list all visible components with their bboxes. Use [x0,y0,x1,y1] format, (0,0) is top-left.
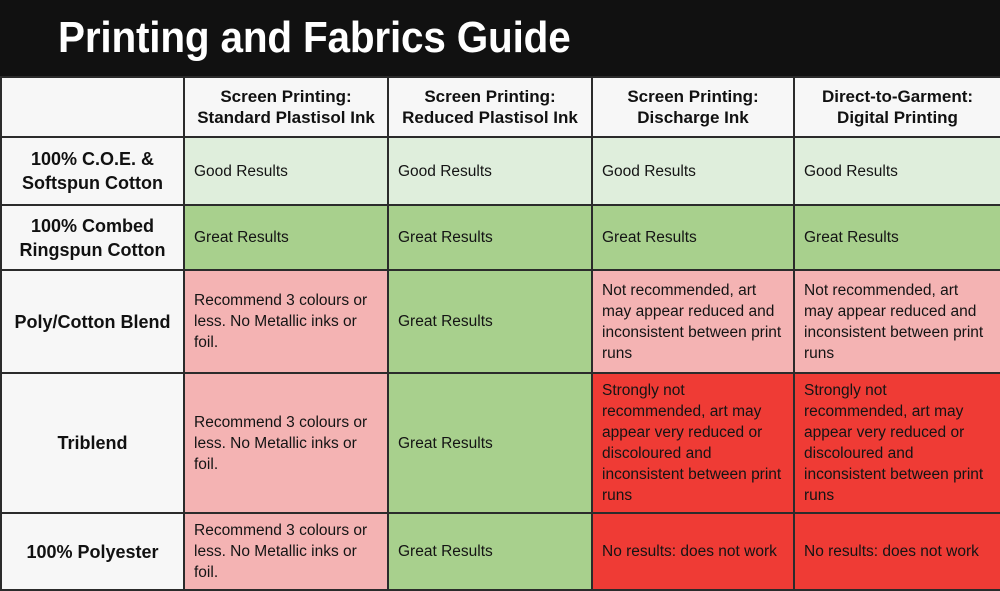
cell-r4c2: Great Results [388,373,592,513]
cell-r2c3: Great Results [592,205,794,270]
row-label-triblend: Triblend [1,373,184,513]
table-header-row: Screen Printing: Standard Plastisol Ink … [1,77,1000,137]
column-header-discharge-ink: Screen Printing: Discharge Ink [592,77,794,137]
cell-r4c1: Recommend 3 colours or less. No Metallic… [184,373,388,513]
row-label-poly-cotton-blend: Poly/Cotton Blend [1,270,184,373]
cell-r3c2: Great Results [388,270,592,373]
cell-r2c4: Great Results [794,205,1000,270]
cell-r5c4: No results: does not work [794,513,1000,590]
table-row: 100% Polyester Recommend 3 colours or le… [1,513,1000,590]
table-row: 100% C.O.E. & Softspun Cotton Good Resul… [1,137,1000,205]
cell-r5c3: No results: does not work [592,513,794,590]
printing-fabrics-guide-page: Printing and Fabrics Guide Screen Printi… [0,0,1000,578]
cell-r1c1: Good Results [184,137,388,205]
cell-r5c2: Great Results [388,513,592,590]
printing-compatibility-table: Screen Printing: Standard Plastisol Ink … [0,76,1000,591]
cell-r3c4: Not recommended, art may appear reduced … [794,270,1000,373]
table-row: Poly/Cotton Blend Recommend 3 colours or… [1,270,1000,373]
table-row: 100% Combed Ringspun Cotton Great Result… [1,205,1000,270]
cell-r1c2: Good Results [388,137,592,205]
cell-r1c4: Good Results [794,137,1000,205]
column-header-reduced-plastisol: Screen Printing: Reduced Plastisol Ink [388,77,592,137]
table-row: Triblend Recommend 3 colours or less. No… [1,373,1000,513]
cell-r4c4: Strongly not recommended, art may appear… [794,373,1000,513]
page-title: Printing and Fabrics Guide [58,15,571,61]
table-corner-cell [1,77,184,137]
column-header-standard-plastisol: Screen Printing: Standard Plastisol Ink [184,77,388,137]
cell-r2c2: Great Results [388,205,592,270]
row-label-combed-ringspun-cotton: 100% Combed Ringspun Cotton [1,205,184,270]
row-label-coe-softspun-cotton: 100% C.O.E. & Softspun Cotton [1,137,184,205]
cell-r5c1: Recommend 3 colours or less. No Metallic… [184,513,388,590]
cell-r1c3: Good Results [592,137,794,205]
title-banner: Printing and Fabrics Guide [0,0,1000,76]
cell-r3c3: Not recommended, art may appear reduced … [592,270,794,373]
cell-r2c1: Great Results [184,205,388,270]
column-header-direct-to-garment: Direct-to-Garment: Digital Printing [794,77,1000,137]
row-label-polyester: 100% Polyester [1,513,184,590]
cell-r3c1: Recommend 3 colours or less. No Metallic… [184,270,388,373]
cell-r4c3: Strongly not recommended, art may appear… [592,373,794,513]
